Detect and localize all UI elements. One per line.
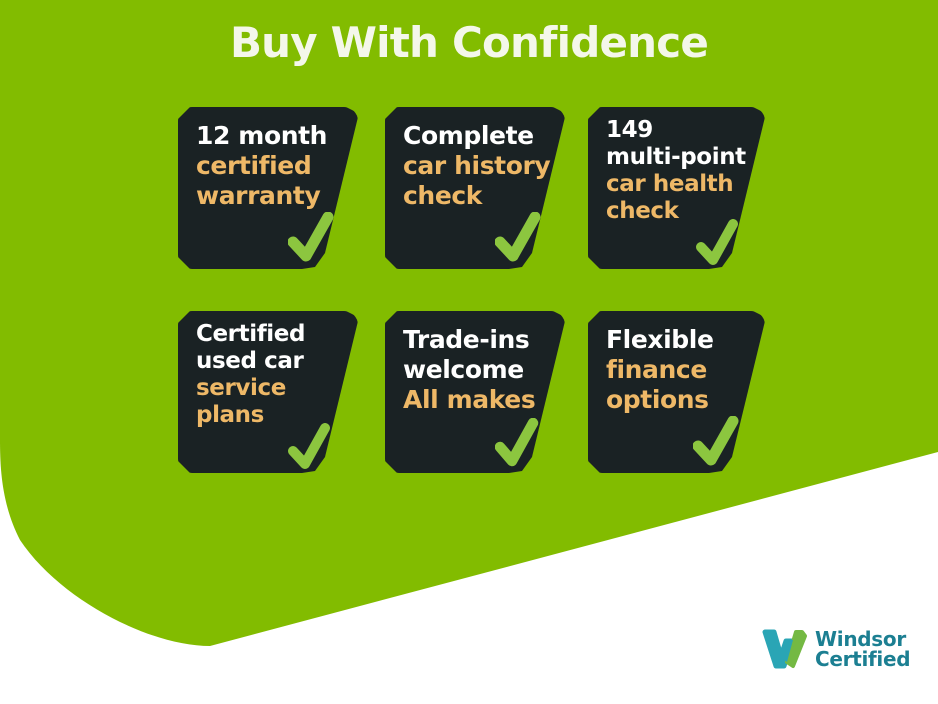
feature-line: welcome — [403, 355, 555, 385]
windsor-certified-logo[interactable]: Windsor Certified — [762, 628, 910, 670]
logo-line-certified: Certified — [815, 649, 910, 669]
feature-card-trade-ins-welcome-all-makes[interactable]: Trade-ins welcome All makes — [385, 311, 565, 473]
feature-line: car health — [606, 171, 755, 198]
checkmark-icon — [288, 423, 332, 471]
feature-line: plans — [196, 402, 348, 429]
feature-card-certified-used-car-service-plans[interactable]: Certified used car service plans — [178, 311, 358, 473]
logo-line-windsor: Windsor — [815, 629, 910, 649]
feature-line: 12 month — [196, 121, 348, 151]
feature-line: Certified — [196, 321, 348, 348]
feature-card-text: Certified used car service plans — [196, 321, 348, 429]
feature-line: check — [606, 198, 755, 225]
checkmark-icon — [495, 418, 541, 468]
feature-card-12-month-certified-warranty[interactable]: 12 month certified warranty — [178, 107, 358, 269]
feature-card-text: Flexible finance options — [606, 325, 755, 415]
feature-line: finance — [606, 355, 755, 385]
windsor-w-mark-icon — [762, 628, 808, 670]
feature-line: multi-point — [606, 144, 755, 171]
logo-wordmark: Windsor Certified — [815, 629, 910, 669]
checkmark-icon — [495, 212, 543, 264]
feature-card-text: Complete car history check — [403, 121, 555, 211]
feature-line: certified — [196, 151, 348, 181]
feature-line: used car — [196, 348, 348, 375]
feature-card-text: 12 month certified warranty — [196, 121, 348, 211]
checkmark-icon — [693, 416, 741, 468]
poster-canvas: Buy With Confidence 12 month certified w… — [0, 0, 938, 704]
checkmark-icon — [696, 219, 740, 267]
page-title: Buy With Confidence — [0, 18, 938, 67]
feature-line: car history — [403, 151, 555, 181]
feature-line: check — [403, 181, 555, 211]
feature-card-149-multi-point-car-health-check[interactable]: 149 multi-point car health check — [588, 107, 765, 269]
feature-card-complete-car-history-check[interactable]: Complete car history check — [385, 107, 565, 269]
feature-line: service — [196, 375, 348, 402]
feature-line: options — [606, 385, 755, 415]
feature-line: Trade-ins — [403, 325, 555, 355]
feature-line: warranty — [196, 181, 348, 211]
feature-line: Flexible — [606, 325, 755, 355]
checkmark-icon — [288, 212, 336, 264]
feature-card-text: Trade-ins welcome All makes — [403, 325, 555, 415]
feature-card-flexible-finance-options[interactable]: Flexible finance options — [588, 311, 765, 473]
feature-card-text: 149 multi-point car health check — [606, 117, 755, 225]
feature-line: All makes — [403, 385, 555, 415]
feature-line: Complete — [403, 121, 555, 151]
feature-line: 149 — [606, 117, 755, 144]
